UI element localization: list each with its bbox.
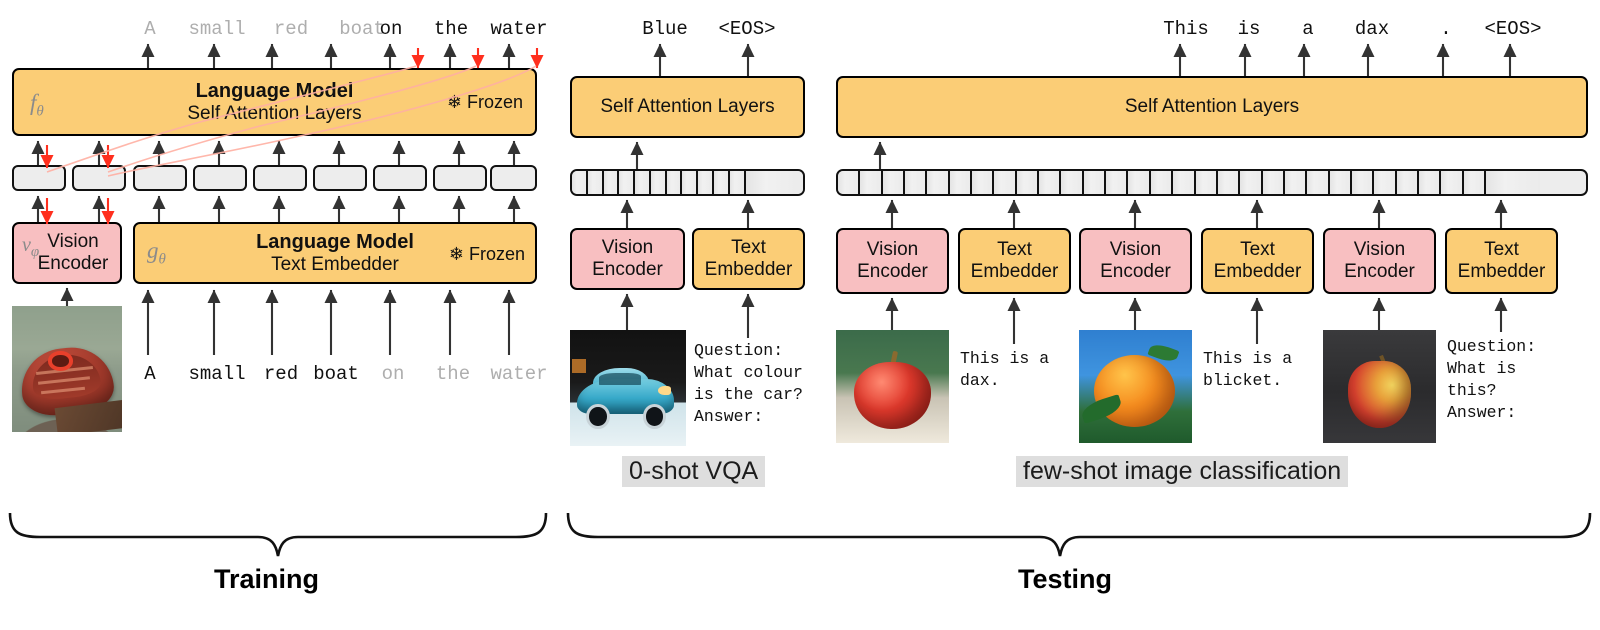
fewshot-vision-encoder-line2: Encoder	[1344, 261, 1415, 282]
training-embedding-slot	[253, 165, 307, 191]
training-brace	[10, 513, 546, 556]
training-phase-label: Training	[214, 564, 319, 595]
fewshot-output-token: This	[1154, 18, 1218, 40]
fewshot-output-token: dax	[1340, 18, 1404, 40]
training-embedder-frozen-badge: ❄ Frozen	[449, 244, 525, 264]
training-language-model-block: fθ Language Model Self Attention Layers …	[12, 68, 537, 136]
vqa-text-embedder-line1: Text	[731, 237, 766, 258]
training-embedding-slot	[72, 165, 126, 191]
training-embedder-title: Language Model	[256, 231, 414, 253]
fewshot-text-embedder-line1: Text	[997, 239, 1032, 260]
training-output-token: on	[360, 18, 422, 40]
fewshot-text-embedder-line2: Embedder	[971, 261, 1059, 282]
training-vision-encoder-line1: Vision	[47, 231, 98, 252]
vqa-vision-encoder-line1: Vision	[602, 237, 653, 258]
vqa-embedding-strip	[570, 169, 805, 196]
figure-canvas: A small red boat on the water fθ Languag…	[0, 0, 1600, 630]
fewshot-vision-encoder-line2: Encoder	[857, 261, 928, 282]
vqa-input-image	[570, 330, 686, 446]
fewshot-text-embedder-block: Text Embedder	[1445, 228, 1558, 294]
fewshot-output-token: is	[1222, 18, 1276, 40]
vqa-text-embedder-block: Text Embedder	[692, 228, 805, 290]
v-phi-symbol: vφ	[22, 234, 39, 262]
training-embedding-slot	[433, 165, 487, 191]
training-vision-encoder-line2: Encoder	[38, 253, 109, 274]
fewshot-vision-encoder-block: Vision Encoder	[836, 228, 949, 294]
fewshot-prompt-text: Question: What is this? Answer:	[1447, 336, 1567, 424]
g-theta-symbol: gθ	[147, 238, 166, 268]
training-text-embedder-block: gθ Language Model Text Embedder ❄ Frozen	[133, 222, 537, 284]
vqa-output-token: Blue	[630, 18, 700, 40]
vqa-vision-encoder-line2: Encoder	[592, 259, 663, 280]
training-embedder-subtitle: Text Embedder	[256, 254, 414, 275]
vqa-self-attention-block: Self Attention Layers	[570, 76, 805, 138]
training-embedding-slot	[490, 165, 537, 191]
fewshot-vision-encoder-line2: Encoder	[1100, 261, 1171, 282]
vqa-prompt-text: Question: What colour is the car? Answer…	[694, 340, 824, 428]
training-embedding-slot	[313, 165, 367, 191]
training-input-token: small	[178, 363, 256, 385]
training-lm-subtitle: Self Attention Layers	[187, 103, 361, 124]
training-output-token: water	[480, 18, 558, 40]
testing-phase-label: Testing	[1018, 564, 1112, 595]
fewshot-self-attention-label: Self Attention Layers	[1125, 96, 1299, 117]
frozen-label: Frozen	[467, 92, 523, 112]
fewshot-text-embedder-line1: Text	[1484, 239, 1519, 260]
fewshot-task-label: few-shot image classification	[1016, 456, 1348, 487]
fewshot-output-token: .	[1422, 18, 1470, 40]
vqa-task-label: 0-shot VQA	[622, 456, 765, 487]
training-input-token: the	[422, 363, 484, 385]
testing-brace	[568, 513, 1590, 556]
fewshot-text-embedder-block: Text Embedder	[1201, 228, 1314, 294]
vqa-output-token: <EOS>	[706, 18, 788, 40]
fewshot-text-embedder-line2: Embedder	[1214, 261, 1302, 282]
training-output-token: small	[178, 18, 256, 40]
fewshot-input-image	[836, 330, 949, 443]
training-output-token: the	[420, 18, 482, 40]
fewshot-output-token: <EOS>	[1472, 18, 1554, 40]
fewshot-input-image	[1079, 330, 1192, 443]
f-theta-symbol: fθ	[30, 90, 44, 120]
fewshot-embedding-strip	[836, 169, 1588, 196]
vqa-text-embedder-line2: Embedder	[705, 259, 793, 280]
fewshot-vision-encoder-line1: Vision	[867, 239, 918, 260]
fewshot-self-attention-block: Self Attention Layers	[836, 76, 1588, 138]
training-input-image	[12, 306, 122, 432]
snowflake-icon: ❄	[447, 92, 462, 112]
fewshot-text-embedder-line1: Text	[1240, 239, 1275, 260]
fewshot-text-embedder-block: Text Embedder	[958, 228, 1071, 294]
vqa-vision-encoder-block: Vision Encoder	[570, 228, 685, 290]
fewshot-vision-encoder-block: Vision Encoder	[1079, 228, 1192, 294]
snowflake-icon: ❄	[449, 244, 464, 264]
training-lm-title: Language Model	[187, 80, 361, 102]
training-output-token: A	[124, 18, 176, 40]
fewshot-prompt-text: This is a dax.	[960, 348, 1076, 392]
training-embedding-slot	[133, 165, 187, 191]
fewshot-vision-encoder-line1: Vision	[1354, 239, 1405, 260]
vqa-self-attention-label: Self Attention Layers	[600, 96, 774, 117]
fewshot-output-token: a	[1284, 18, 1332, 40]
fewshot-vision-encoder-line1: Vision	[1110, 239, 1161, 260]
training-embedding-slot	[12, 165, 66, 191]
fewshot-text-embedder-line2: Embedder	[1458, 261, 1546, 282]
fewshot-vision-encoder-block: Vision Encoder	[1323, 228, 1436, 294]
training-embedding-slot	[373, 165, 427, 191]
training-input-token: on	[362, 363, 424, 385]
training-vision-encoder-block: vφ Vision Encoder	[12, 222, 122, 284]
training-input-token: A	[124, 363, 176, 385]
training-embedding-slot	[193, 165, 247, 191]
frozen-label: Frozen	[469, 244, 525, 264]
training-input-token: water	[480, 363, 558, 385]
fewshot-input-image	[1323, 330, 1436, 443]
training-frozen-badge: ❄ Frozen	[447, 92, 523, 112]
fewshot-prompt-text: This is a blicket.	[1203, 348, 1319, 392]
training-output-token: red	[258, 18, 324, 40]
